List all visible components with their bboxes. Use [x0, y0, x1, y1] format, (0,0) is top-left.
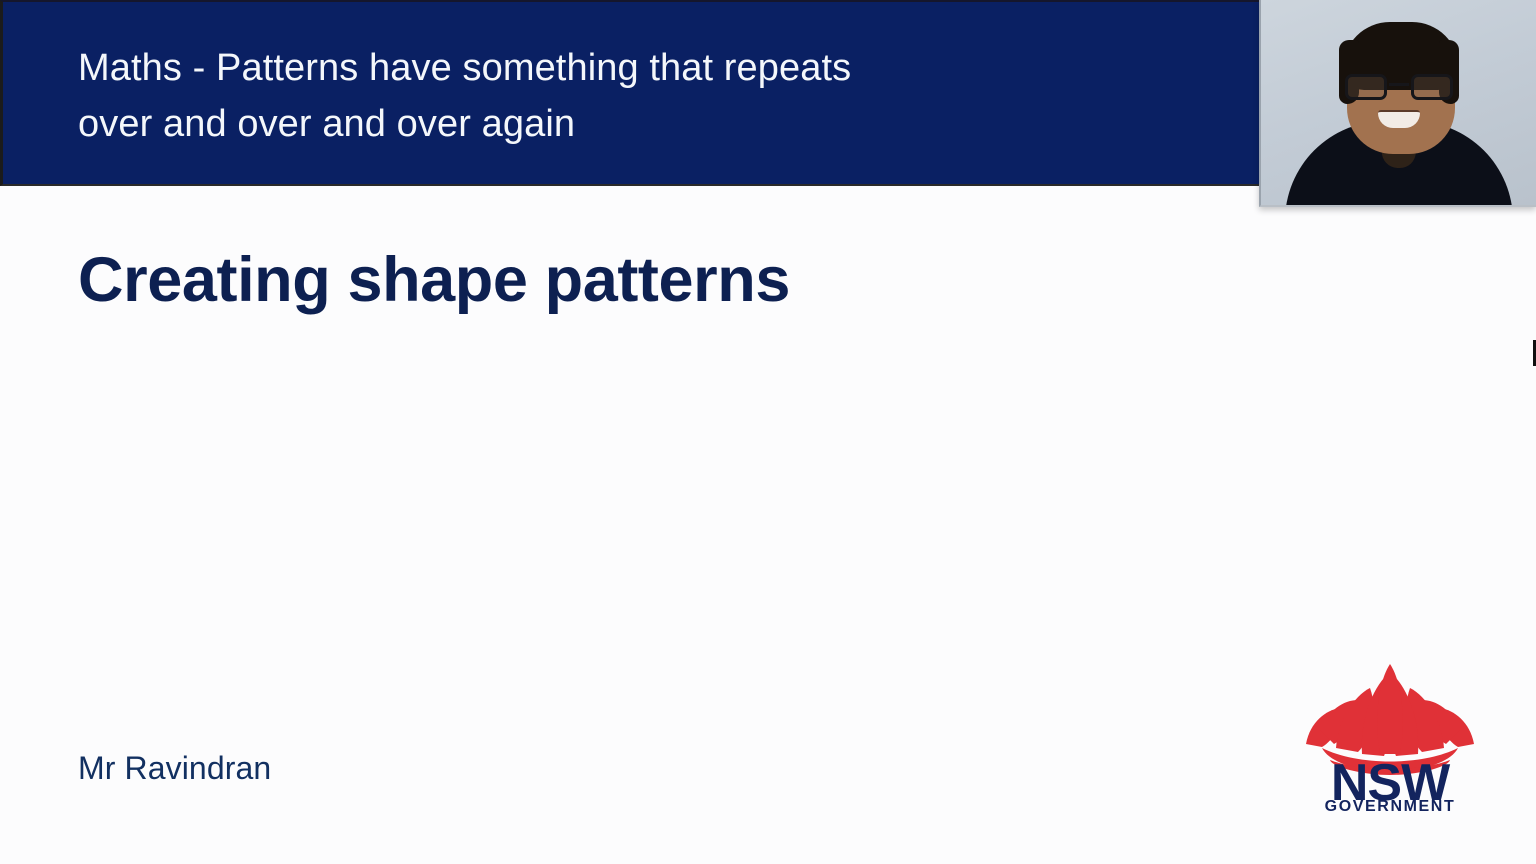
glasses-lens-left — [1345, 74, 1387, 100]
slide-banner: Maths - Patterns have something that rep… — [0, 0, 1285, 186]
glasses-lens-right — [1411, 74, 1453, 100]
nsw-government-logo: NSW GOVERNMENT — [1300, 648, 1480, 813]
presenter-smile — [1378, 110, 1420, 128]
presenter-video-feed[interactable] — [1259, 0, 1536, 207]
glasses-icon — [1343, 74, 1455, 100]
glasses-bridge — [1389, 83, 1409, 86]
banner-heading: Maths - Patterns have something that rep… — [78, 40, 1208, 152]
slide-canvas: Maths - Patterns have something that rep… — [0, 0, 1536, 864]
presenter-name: Mr Ravindran — [78, 750, 271, 787]
logo-secondary-text: GOVERNMENT — [1325, 798, 1456, 813]
page-title: Creating shape patterns — [78, 246, 790, 315]
